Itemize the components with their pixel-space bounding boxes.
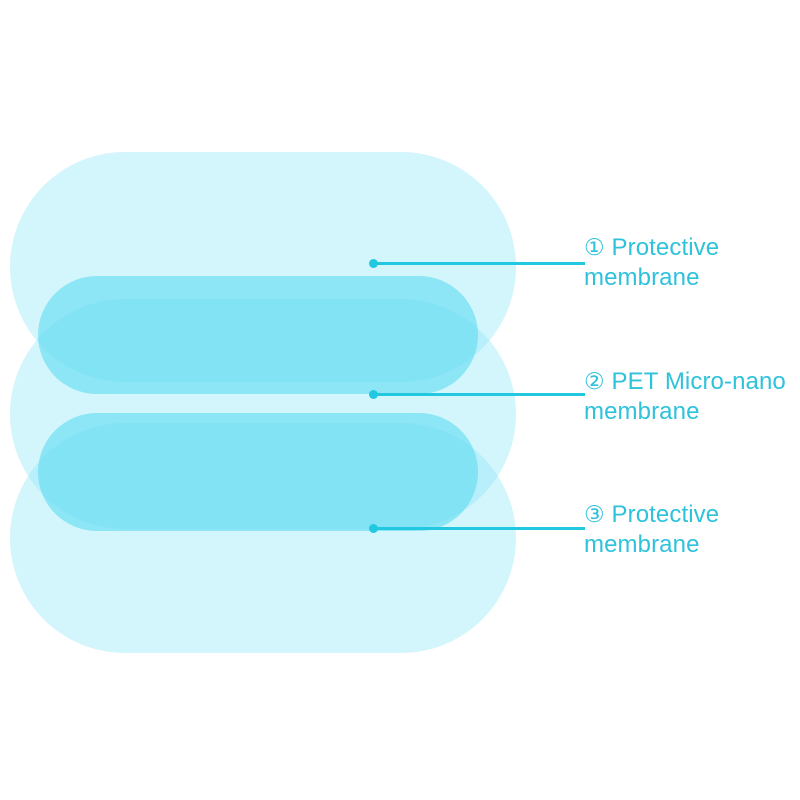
callout-marker-2: ② [584,368,605,394]
callout-text-3: Protective membrane [584,501,719,558]
callout-label-3: ③ Protective membrane [584,499,798,560]
leader-line-1 [374,262,585,265]
callout-marker-3: ③ [584,501,605,527]
callout-label-1: ① Protective membrane [584,232,798,293]
leader-line-2 [374,393,585,396]
diagram-canvas: ① Protective membrane ② PET Micro-nano m… [0,0,800,800]
callout-marker-1: ① [584,234,605,260]
membrane-core-shape-upper [38,276,478,394]
membrane-core-shape-lower [38,413,478,531]
callout-text-1: Protective membrane [584,234,719,291]
leader-line-3 [374,527,585,530]
callout-text-2: PET Micro-nano membrane [584,368,786,425]
callout-label-2: ② PET Micro-nano membrane [584,366,798,427]
